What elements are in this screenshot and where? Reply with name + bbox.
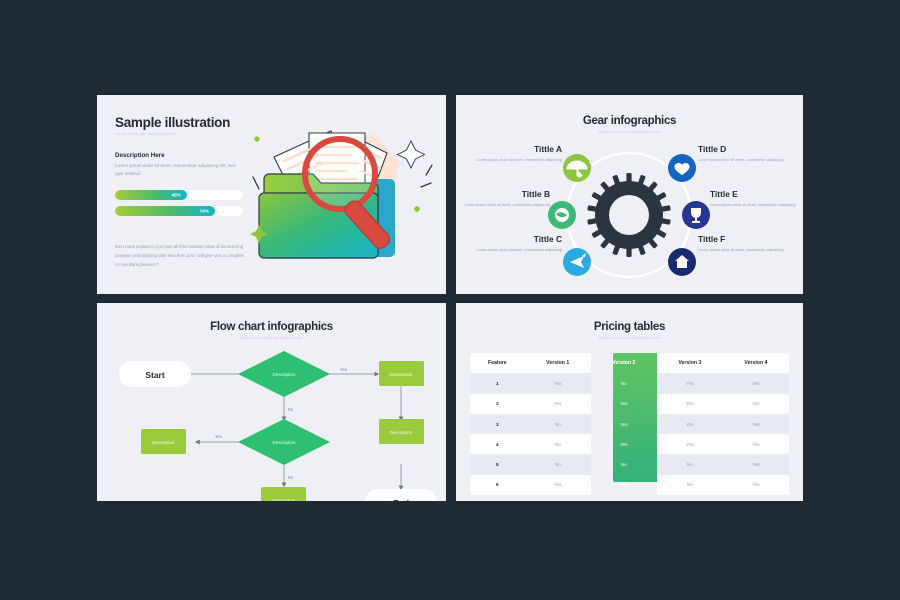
gear-item-f-title: Tittle F [698, 235, 784, 244]
gear-node-d [668, 154, 696, 182]
value-cell: Yes [657, 434, 723, 454]
pricing-table-header: FeatureVersion 1Version 2Version 3Versio… [470, 353, 789, 373]
flow-bottom-label: Description [273, 498, 296, 501]
value-cell: Yes [591, 414, 657, 434]
pricing-header-version-1: Version 1 [525, 353, 591, 373]
gear-item-b: Tittle B Lorem ipsum dolor sit amet, con… [464, 190, 550, 210]
flow-node-bottom: Description [261, 487, 306, 501]
gear-item-f-desc: Lorem ipsum dolor sit amet, consectetur … [698, 247, 784, 254]
feature-cell: 2 [470, 394, 525, 414]
value-cell: Yes [657, 394, 723, 414]
page-subtitle: Please enter your description here [115, 132, 255, 136]
table-row: 6YesYesNoYes [470, 475, 789, 495]
value-cell: Yes [525, 394, 591, 414]
value-cell: Yes [723, 373, 789, 393]
pricing-header-feature: Feature [470, 353, 525, 373]
value-cell: No [525, 414, 591, 434]
feature-cell: 5 [470, 454, 525, 474]
gear-icon [587, 173, 671, 257]
table-row: 1YesNoYesYes [470, 373, 789, 393]
value-cell: Yes [591, 475, 657, 495]
panel-sample-illustration: Sample illustration Please enter your de… [97, 95, 446, 294]
sparkle-white [398, 141, 425, 168]
value-cell: Yes [723, 414, 789, 434]
page-title: Sample illustration [115, 115, 230, 130]
table-row: 2YesYesYesYes [470, 394, 789, 414]
page-subtitle: Please enter your description here [456, 336, 803, 340]
value-cell: No [657, 454, 723, 474]
value-cell: Yes [525, 373, 591, 393]
progress-bar-2: 74% [115, 206, 243, 216]
flow-right-1-label: Description [390, 372, 413, 377]
value-cell: Yes [525, 475, 591, 495]
gear-item-a-desc: Lorem ipsum dolor sit amet, consectetur … [476, 157, 562, 164]
value-cell: No [591, 373, 657, 393]
description-body: Lorem ipsum dolor sit amet, consectetur … [115, 162, 243, 179]
flow-node-left: Description [141, 429, 186, 454]
panel-flow-chart: Flow chart infographics Please enter you… [97, 303, 446, 501]
table-row: 4NoYesYesYes [470, 434, 789, 454]
gear-item-b-title: Tittle B [464, 190, 550, 199]
value-cell: Yes [723, 475, 789, 495]
panel-pricing-tables: Pricing tables Please enter your descrip… [456, 303, 803, 501]
pricing-table-body: 1YesNoYesYes2YesYesYesYes3NoYesYesYes4No… [470, 373, 789, 495]
feature-cell: 4 [470, 434, 525, 454]
value-cell: No [591, 454, 657, 474]
flow-start-label: Start [145, 370, 165, 380]
gear-node-a [563, 154, 591, 182]
slide-deck-preview: Sample illustration Please enter your de… [0, 0, 900, 600]
flow-left-label: Description [152, 440, 175, 445]
folder-magnifier-illustration [247, 117, 437, 282]
value-cell: Yes [723, 454, 789, 474]
progress-bar-2-value: 74% [200, 209, 209, 214]
table-row: 3NoYesYesYes [470, 414, 789, 434]
pricing-header-version-3: Version 3 [657, 353, 723, 373]
table-header-row: FeatureVersion 1Version 2Version 3Versio… [470, 353, 789, 373]
gear-item-c: Tittle C Lorem ipsum dolor sit amet, con… [476, 235, 562, 255]
progress-bar-1: 45% [115, 190, 243, 200]
gear-node-b [548, 201, 576, 229]
gear-item-e-title: Tittle E [710, 190, 796, 199]
table-row: 5NoNoNoYes [470, 454, 789, 474]
flow-node-decision-2: Description [238, 419, 330, 465]
flow-right-2-label: Description [390, 430, 413, 435]
flow-node-end: End [365, 489, 437, 501]
gear-item-d: Tittle D Lorem ipsum dolor sit amet, con… [698, 145, 784, 165]
feature-cell: 6 [470, 475, 525, 495]
pricing-header-version-4: Version 4 [723, 353, 789, 373]
value-cell: Yes [591, 394, 657, 414]
value-cell: Yes [591, 434, 657, 454]
edge-label-d2-no: No [288, 475, 294, 480]
gear-item-e-desc: Lorem ipsum dolor sit amet, consectetur … [710, 202, 796, 209]
gear-item-d-desc: Lorem ipsum dolor sit amet, consectetur … [698, 157, 784, 164]
gear-item-c-title: Tittle C [476, 235, 562, 244]
progress-bar-1-fill: 45% [115, 190, 187, 200]
flow-end-label: End [393, 498, 409, 501]
edge-label-d1-no: No [288, 407, 294, 412]
gear-node-f [668, 248, 696, 276]
panel-gear-infographics: Gear infographics Please enter your desc… [456, 95, 803, 294]
pricing-table: FeatureVersion 1Version 2Version 3Versio… [470, 353, 789, 495]
value-cell: Yes [723, 434, 789, 454]
value-cell: No [525, 454, 591, 474]
value-cell: No [525, 434, 591, 454]
progress-bar-1-value: 45% [171, 193, 180, 198]
flow-chart-diagram: Start Description Description Descriptio… [97, 303, 446, 501]
gear-item-d-title: Tittle D [698, 145, 784, 154]
flow-decision-1-label: Description [273, 372, 296, 377]
edge-label-d1-yes: Yes [340, 367, 347, 372]
gear-item-b-desc: Lorem ipsum dolor sit amet, consectetur … [464, 202, 550, 209]
feature-cell: 1 [470, 373, 525, 393]
flow-node-right-2: Description [379, 419, 424, 444]
gear-item-a-title: Tittle A [476, 145, 562, 154]
feature-cell: 3 [470, 414, 525, 434]
gear-node-e [682, 201, 710, 229]
edge-label-d2-yes: Yes [215, 434, 222, 439]
page-title: Pricing tables [456, 321, 803, 333]
pricing-header-version-2: Version 2 [591, 353, 657, 373]
gear-item-e: Tittle E Lorem ipsum dolor sit amet, con… [710, 190, 796, 210]
flow-node-start: Start [119, 361, 191, 387]
value-cell: No [657, 475, 723, 495]
gear-item-c-desc: Lorem ipsum dolor sit amet, consectetur … [476, 247, 562, 254]
value-cell: Yes [657, 373, 723, 393]
gear-item-a: Tittle A Lorem ipsum dolor sit amet, con… [476, 145, 562, 165]
flow-decision-2-label: Description [273, 440, 296, 445]
progress-bar-2-fill: 74% [115, 206, 215, 216]
value-cell: Yes [723, 394, 789, 414]
gear-item-f: Tittle F Lorem ipsum dolor sit amet, con… [698, 235, 784, 255]
footer-paragraph: But I must explain to you how all this m… [115, 243, 245, 269]
gear-node-c [563, 248, 591, 276]
value-cell: Yes [657, 414, 723, 434]
flow-node-decision-1: Description [238, 351, 330, 397]
description-heading: Description Here [115, 152, 165, 159]
flow-node-right-1: Description [379, 361, 424, 386]
